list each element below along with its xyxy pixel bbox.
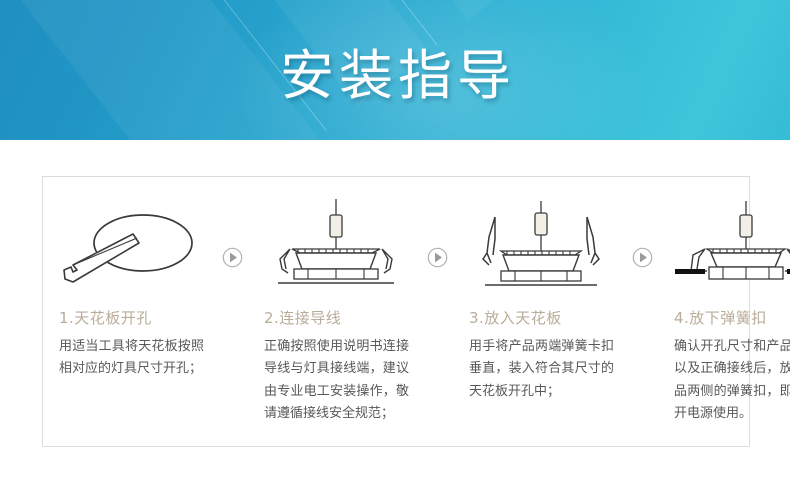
step-title: 2.连接导线 xyxy=(250,309,421,327)
next-arrow-icon xyxy=(222,247,243,268)
step-separator xyxy=(216,177,248,448)
next-arrow-icon xyxy=(632,247,653,268)
page-title: 安装指导 xyxy=(0,0,790,140)
downlight-installed-icon xyxy=(660,195,790,295)
step-item: 2.连接导线 正确按照使用说明书连接导线与灯具接线端，建议由专业电工安装操作，敬… xyxy=(248,177,421,425)
steps-row: 1.天花板开孔 用适当工具将天花板按照相对应的灯具尺寸开孔； xyxy=(43,177,749,446)
step-body: 确认开孔尺寸和产品贴合以及正确接线后，放下产品两侧的弹簧扣，即可打开电源使用。 xyxy=(660,336,790,425)
step-title: 1.天花板开孔 xyxy=(45,309,216,327)
downlight-springs-up-icon xyxy=(455,195,626,295)
step-separator xyxy=(626,177,658,448)
step-separator xyxy=(421,177,453,448)
step-title: 3.放入天花板 xyxy=(455,309,626,327)
installation-steps-card: 1.天花板开孔 用适当工具将天花板按照相对应的灯具尺寸开孔； xyxy=(42,176,750,447)
step-title: 4.放下弹簧扣 xyxy=(660,309,790,327)
step-item: 1.天花板开孔 用适当工具将天花板按照相对应的灯具尺寸开孔； xyxy=(43,177,216,381)
downlight-wiring-icon xyxy=(250,195,421,295)
step-body: 用适当工具将天花板按照相对应的灯具尺寸开孔； xyxy=(45,336,216,381)
step-item: 4.放下弹簧扣 确认开孔尺寸和产品贴合以及正确接线后，放下产品两侧的弹簧扣，即可… xyxy=(658,177,790,425)
hole-saw-ceiling-cut-icon xyxy=(45,195,216,295)
page-header-banner: 安装指导 xyxy=(0,0,790,140)
step-body: 用手将产品两端弹簧卡扣垂直，装入符合其尺寸的天花板开孔中； xyxy=(455,336,626,403)
step-body: 正确按照使用说明书连接导线与灯具接线端，建议由专业电工安装操作，敬请遵循接线安全… xyxy=(250,336,421,425)
step-item: 3.放入天花板 用手将产品两端弹簧卡扣垂直，装入符合其尺寸的天花板开孔中； xyxy=(453,177,626,403)
next-arrow-icon xyxy=(427,247,448,268)
